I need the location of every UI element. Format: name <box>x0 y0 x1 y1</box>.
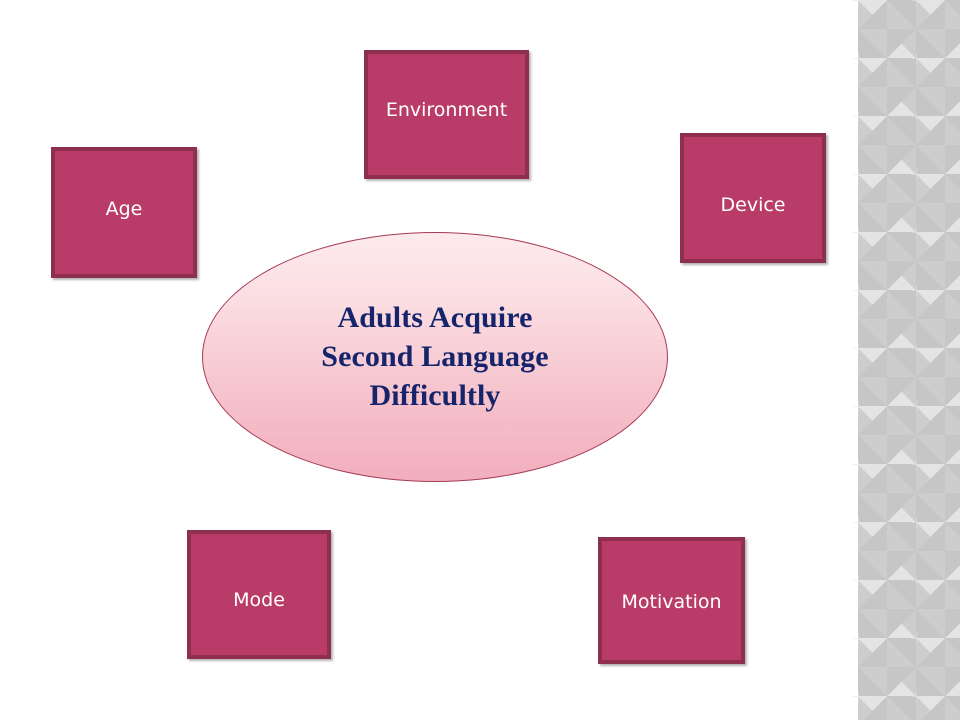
sparkle-icon <box>911 0 922 6</box>
factor-label-environment: Environment <box>386 101 507 120</box>
factor-box-mode[interactable]: Mode <box>187 530 331 659</box>
sparkle-icon <box>911 459 922 470</box>
sparkle-icon <box>853 575 864 586</box>
sparkle-icon <box>911 401 922 412</box>
sparkle-icon <box>911 53 922 64</box>
sparkle-icon <box>853 111 864 122</box>
diamond-pattern-strip <box>858 0 960 720</box>
sparkle-icon <box>853 401 864 412</box>
sparkle-icon <box>853 517 864 528</box>
sparkle-icon <box>853 343 864 354</box>
sparkle-icon <box>853 0 864 6</box>
sparkle-icon <box>911 343 922 354</box>
factor-label-motivation: Motivation <box>621 593 721 612</box>
sparkle-icon <box>853 169 864 180</box>
factor-box-age[interactable]: Age <box>51 147 197 278</box>
sparkle-icon <box>911 111 922 122</box>
sparkle-icon <box>911 575 922 586</box>
central-concept-label: Adults Acquire Second Language Difficult… <box>321 298 548 417</box>
factor-box-motivation[interactable]: Motivation <box>598 537 745 664</box>
central-concept-ellipse: Adults Acquire Second Language Difficult… <box>202 232 668 482</box>
sparkle-icon <box>911 691 922 702</box>
sparkle-icon <box>911 517 922 528</box>
sparkle-icon <box>853 285 864 296</box>
factor-box-environment[interactable]: Environment <box>364 50 529 179</box>
factor-label-device: Device <box>721 196 786 215</box>
sparkle-icon <box>853 459 864 470</box>
sparkle-icon <box>911 633 922 644</box>
sparkle-icon <box>853 633 864 644</box>
factor-label-mode: Mode <box>233 591 285 610</box>
sparkle-icon <box>911 169 922 180</box>
factor-box-device[interactable]: Device <box>680 133 826 263</box>
sparkle-icon <box>911 285 922 296</box>
sparkle-icon <box>853 227 864 238</box>
slide-canvas: Adults Acquire Second Language Difficult… <box>0 0 960 720</box>
sparkle-icon <box>911 227 922 238</box>
sparkle-icon <box>853 691 864 702</box>
factor-label-age: Age <box>106 200 143 219</box>
sparkle-icon <box>853 53 864 64</box>
